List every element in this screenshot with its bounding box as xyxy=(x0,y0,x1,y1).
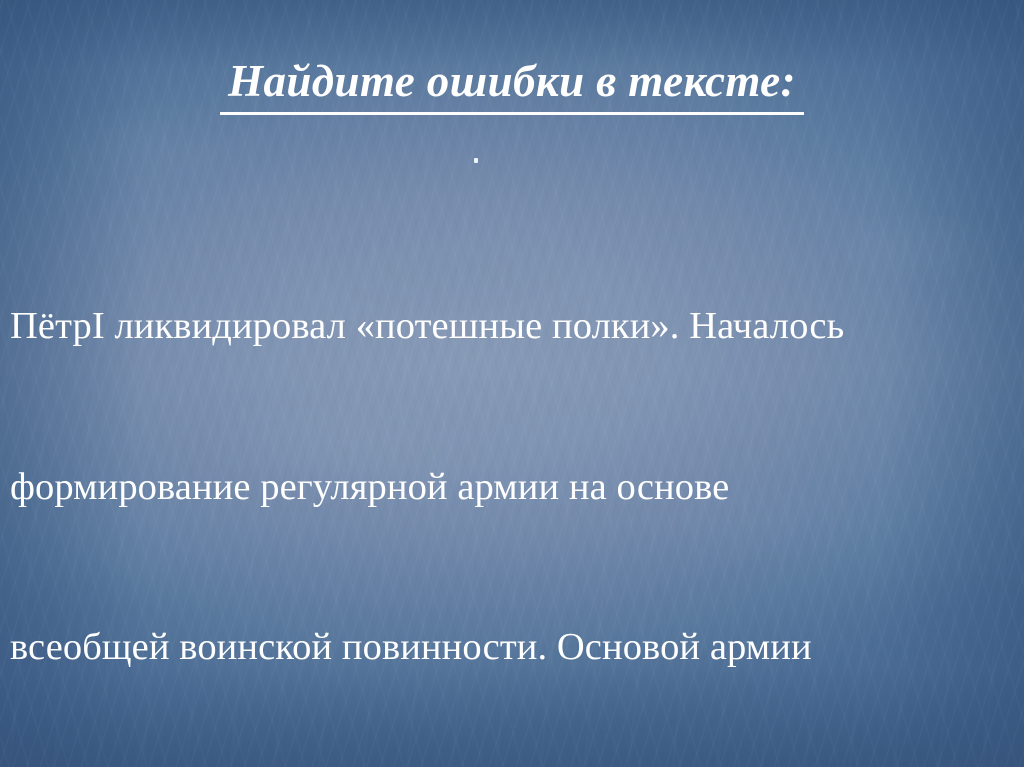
body-line-2: формирование регулярной армии на основе xyxy=(10,461,1016,515)
slide-content: Найдите ошибки в тексте: ПётрI ликвидиро… xyxy=(0,0,1024,767)
separator-dot xyxy=(474,158,478,163)
body-line-1: ПётрI ликвидировал «потешные полки». Нач… xyxy=(10,300,1016,354)
slide-title-text: Найдите ошибки в тексте: xyxy=(220,56,804,114)
body-line-3: всеобщей воинской повинности. Основой ар… xyxy=(10,621,1016,675)
slide-body-text: ПётрI ликвидировал «потешные полки». Нач… xyxy=(10,193,1016,767)
slide-canvas: Найдите ошибки в тексте: ПётрI ликвидиро… xyxy=(0,0,1024,767)
slide-title: Найдите ошибки в тексте: xyxy=(0,56,1024,114)
